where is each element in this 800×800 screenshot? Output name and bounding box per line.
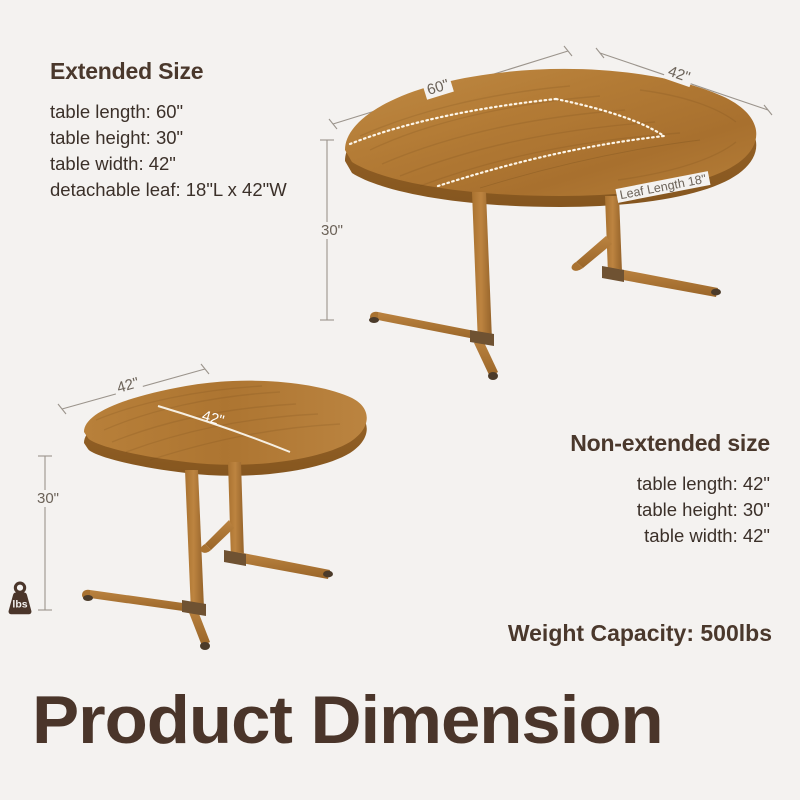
weight-icon-text: lbs bbox=[12, 598, 27, 610]
infographic-canvas: 60" 42" 30" Leaf Length 18" 42" 42" 30" … bbox=[0, 0, 800, 800]
non-extended-spec-line: table height: 30" bbox=[570, 497, 770, 523]
dim-label-extended-height: 30" bbox=[318, 222, 346, 239]
non-extended-size-block: Non-extended size table length: 42" tabl… bbox=[570, 430, 770, 549]
extended-size-block: Extended Size table length: 60" table he… bbox=[50, 58, 287, 203]
extended-spec-line: table length: 60" bbox=[50, 99, 287, 125]
page-title: Product Dimension bbox=[32, 683, 663, 757]
extended-size-heading: Extended Size bbox=[50, 58, 287, 85]
pedestal-left-non-extended bbox=[82, 470, 210, 650]
dim-label-non-extended-height: 30" bbox=[34, 490, 62, 507]
extended-spec-line: table width: 42" bbox=[50, 151, 287, 177]
pedestal-right-non-extended bbox=[201, 462, 333, 579]
weight-capacity-label: Weight Capacity: 500lbs bbox=[508, 620, 772, 647]
weight-icon: lbs bbox=[0, 578, 40, 618]
non-extended-spec-line: table width: 42" bbox=[570, 523, 770, 549]
extended-spec-line: table height: 30" bbox=[50, 125, 287, 151]
pedestal-right-extended bbox=[572, 196, 721, 297]
pedestal-left-extended bbox=[369, 192, 498, 380]
extended-spec-line: detachable leaf: 18"L x 42"W bbox=[50, 177, 287, 203]
non-extended-spec-line: table length: 42" bbox=[570, 471, 770, 497]
non-extended-size-heading: Non-extended size bbox=[570, 430, 770, 457]
